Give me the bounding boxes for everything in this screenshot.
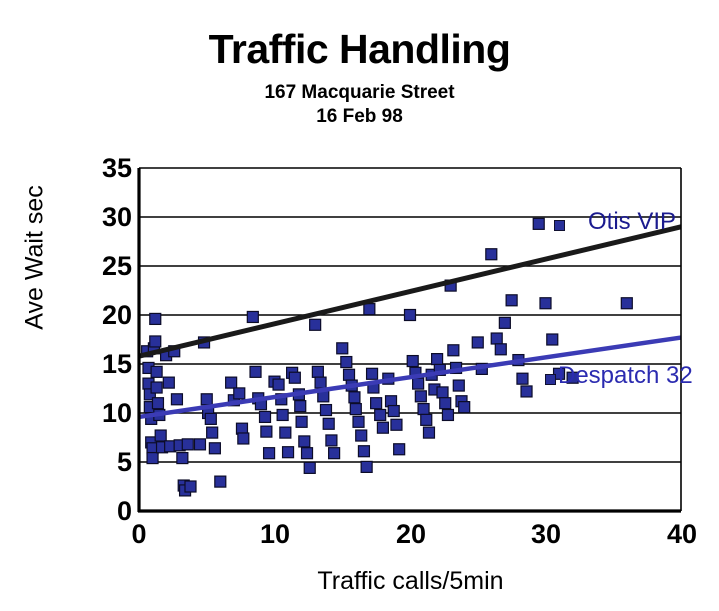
data-point bbox=[209, 443, 220, 454]
data-point bbox=[344, 369, 355, 380]
data-point bbox=[273, 379, 284, 390]
data-point bbox=[147, 453, 158, 464]
data-point bbox=[407, 356, 418, 367]
data-point bbox=[499, 317, 510, 328]
data-point bbox=[150, 313, 161, 324]
data-point bbox=[151, 366, 162, 377]
data-point bbox=[453, 380, 464, 391]
chart-container: Traffic Handling 167 Macquarie Street 16… bbox=[0, 0, 719, 611]
data-point bbox=[418, 404, 429, 415]
data-point bbox=[312, 366, 323, 377]
data-point bbox=[283, 447, 294, 458]
data-point bbox=[367, 368, 378, 379]
data-point bbox=[448, 345, 459, 356]
data-point bbox=[310, 319, 321, 330]
data-point bbox=[299, 436, 310, 447]
data-point bbox=[171, 394, 182, 405]
data-point bbox=[289, 372, 300, 383]
data-point bbox=[547, 334, 558, 345]
data-point bbox=[341, 357, 352, 368]
data-point bbox=[486, 249, 497, 260]
data-point bbox=[442, 409, 453, 420]
data-point bbox=[350, 404, 361, 415]
data-point bbox=[238, 433, 249, 444]
data-point bbox=[423, 427, 434, 438]
data-point bbox=[247, 311, 258, 322]
data-point bbox=[151, 382, 162, 393]
data-point bbox=[280, 427, 291, 438]
data-point bbox=[459, 402, 470, 413]
data-point bbox=[432, 354, 443, 365]
data-point bbox=[394, 444, 405, 455]
data-point bbox=[277, 409, 288, 420]
data-point bbox=[353, 416, 364, 427]
data-point bbox=[182, 439, 193, 450]
data-point bbox=[391, 419, 402, 430]
legend-label-otis-vip[interactable]: Otis VIP bbox=[588, 208, 676, 236]
data-point bbox=[215, 476, 226, 487]
data-point bbox=[177, 453, 188, 464]
data-point bbox=[201, 394, 212, 405]
data-point bbox=[421, 414, 432, 425]
data-point bbox=[194, 439, 205, 450]
data-point bbox=[260, 411, 271, 422]
data-point bbox=[163, 377, 174, 388]
data-point bbox=[491, 333, 502, 344]
legend-label-despatch-32[interactable]: Despatch 32 bbox=[558, 362, 693, 390]
data-point bbox=[205, 413, 216, 424]
data-point bbox=[533, 218, 544, 229]
data-point bbox=[329, 448, 340, 459]
data-point bbox=[264, 448, 275, 459]
data-point bbox=[371, 398, 382, 409]
data-point bbox=[540, 298, 551, 309]
data-point bbox=[437, 387, 448, 398]
data-point bbox=[361, 461, 372, 472]
data-point bbox=[356, 430, 367, 441]
data-point bbox=[506, 295, 517, 306]
legend-marker-despatch-32 bbox=[545, 374, 556, 385]
data-point bbox=[226, 377, 237, 388]
data-point bbox=[440, 398, 451, 409]
data-point bbox=[326, 435, 337, 446]
data-point bbox=[185, 481, 196, 492]
data-point bbox=[375, 409, 386, 420]
data-point bbox=[521, 386, 532, 397]
data-point bbox=[349, 392, 360, 403]
data-point bbox=[415, 391, 426, 402]
data-point bbox=[315, 377, 326, 388]
data-point bbox=[320, 405, 331, 416]
data-point bbox=[517, 373, 528, 384]
data-point bbox=[234, 388, 245, 399]
plot-area bbox=[0, 0, 719, 611]
data-point bbox=[472, 337, 483, 348]
data-point bbox=[377, 422, 388, 433]
data-point bbox=[621, 298, 632, 309]
data-point bbox=[495, 344, 506, 355]
data-point bbox=[296, 416, 307, 427]
data-point bbox=[150, 336, 161, 347]
legend-marker-otis-vip bbox=[554, 220, 565, 231]
data-point bbox=[152, 398, 163, 409]
data-point bbox=[261, 426, 272, 437]
data-point bbox=[295, 401, 306, 412]
data-point bbox=[207, 427, 218, 438]
data-point bbox=[304, 462, 315, 473]
data-point bbox=[155, 430, 166, 441]
data-point bbox=[405, 310, 416, 321]
data-point bbox=[388, 406, 399, 417]
data-point bbox=[323, 418, 334, 429]
data-point bbox=[358, 446, 369, 457]
data-point bbox=[364, 304, 375, 315]
data-point bbox=[302, 448, 313, 459]
data-point bbox=[337, 343, 348, 354]
data-point bbox=[413, 378, 424, 389]
data-point bbox=[250, 366, 261, 377]
